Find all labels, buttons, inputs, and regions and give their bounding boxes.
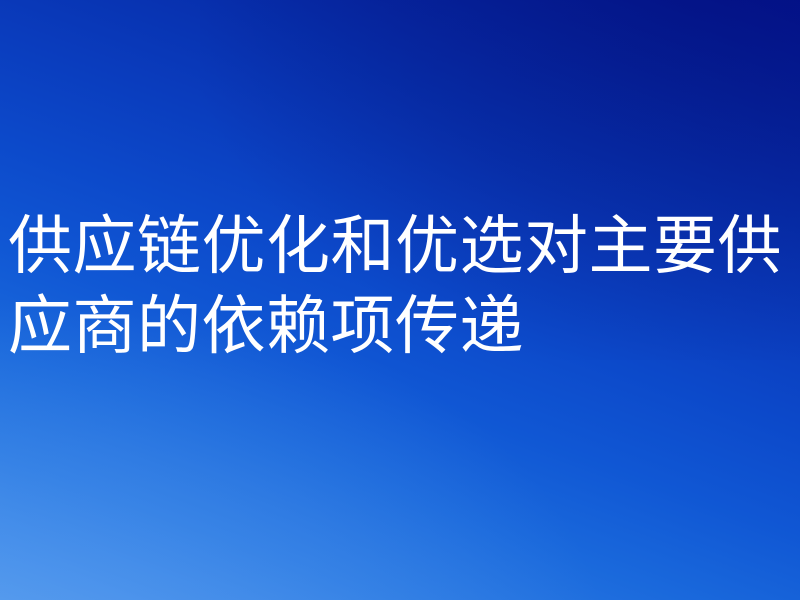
banner-background: 供应链优化和优选对主要供应商的依赖项传递 — [0, 0, 800, 600]
banner-headline: 供应链优化和优选对主要供应商的依赖项传递 — [8, 206, 794, 366]
headline-container: 供应链优化和优选对主要供应商的依赖项传递 — [0, 206, 800, 366]
